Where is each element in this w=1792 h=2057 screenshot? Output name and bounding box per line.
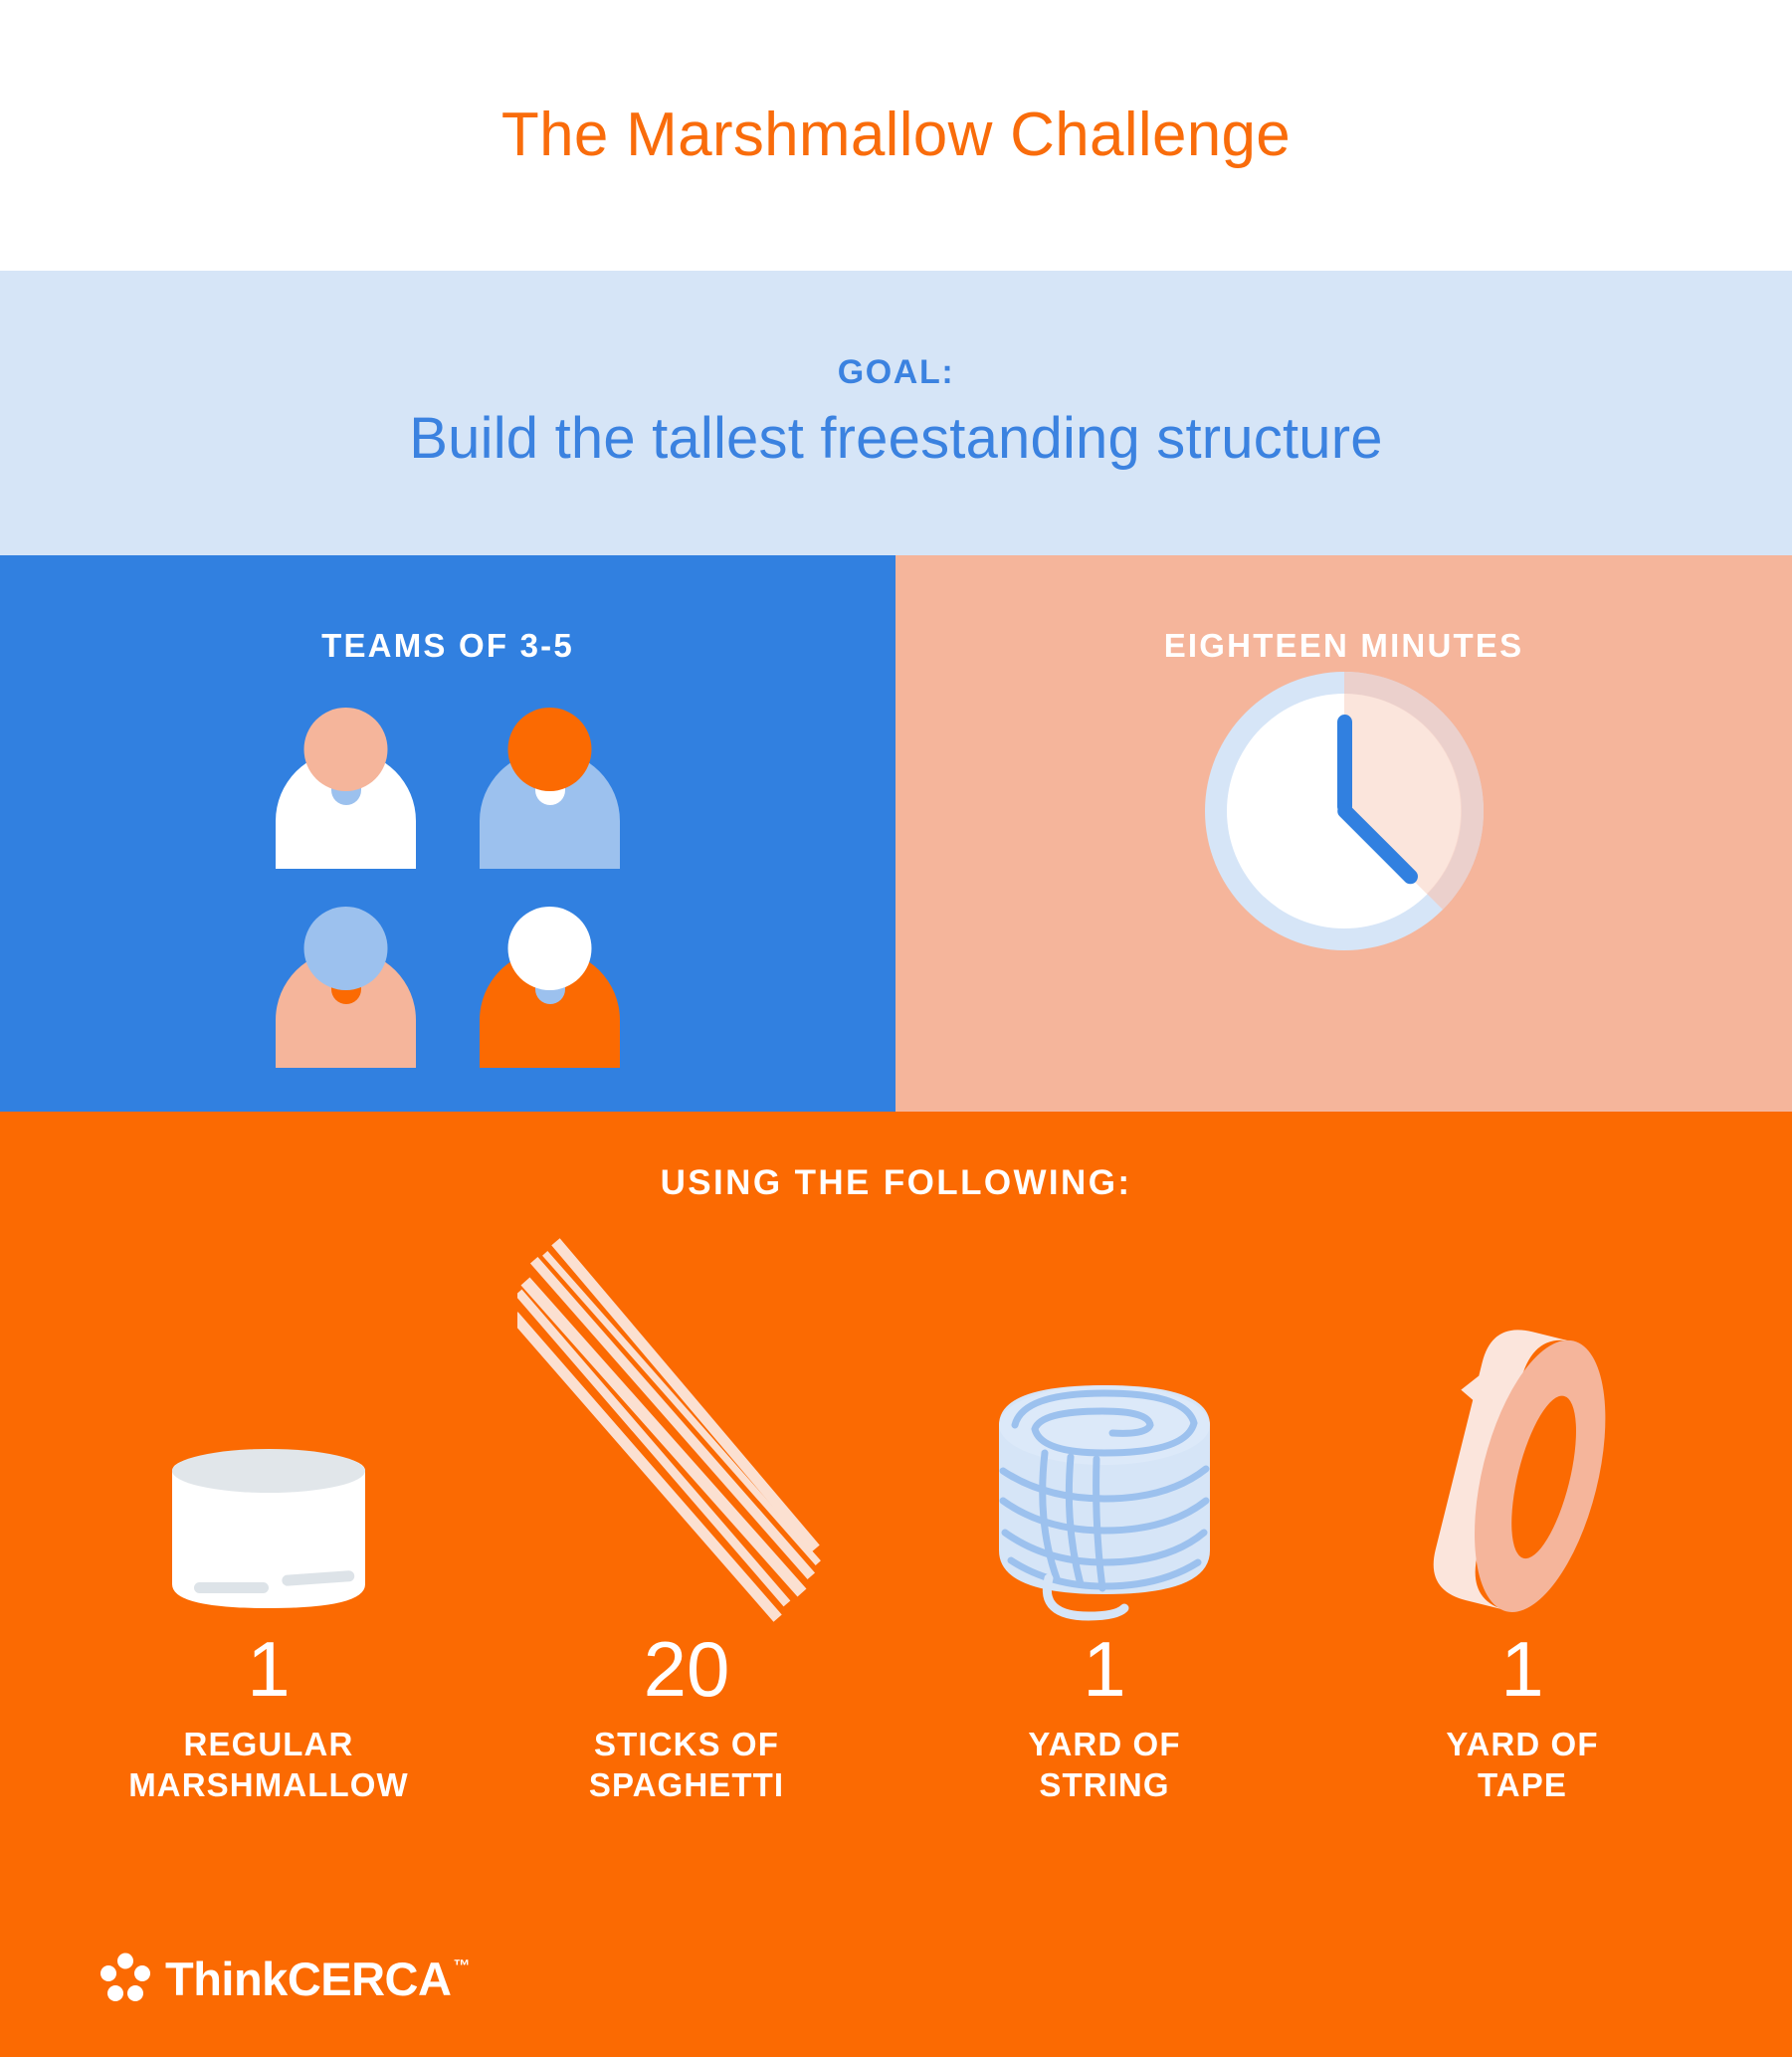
tape-label: YARD OF TAPE: [1446, 1724, 1598, 1806]
string-count: 1: [1083, 1630, 1125, 1708]
teams-heading: TEAMS OF 3-5: [0, 629, 896, 662]
logo-think-text: Think: [165, 1955, 288, 2002]
clock-wrapper: [1200, 667, 1489, 960]
person-icon: [259, 899, 433, 1068]
middle-row: TEAMS OF 3-5: [0, 555, 1792, 1112]
tape-art: [1313, 1234, 1731, 1622]
spaghetti-art: [478, 1234, 896, 1622]
string-label: YARD OF STRING: [1028, 1724, 1180, 1806]
materials-list: 1 REGULAR MARSHMALLOW 20 STICKS OF: [60, 1234, 1731, 1851]
clock-icon: [1200, 667, 1489, 955]
time-heading: EIGHTEEN MINUTES: [896, 629, 1792, 662]
goal-label: GOAL:: [838, 355, 955, 389]
spaghetti-icon: [517, 1234, 856, 1622]
logo-wordmark: ThinkCERCA™: [165, 1955, 470, 2002]
tape-roll-icon: [1413, 1324, 1632, 1622]
marshmallow-label: REGULAR MARSHMALLOW: [128, 1724, 409, 1806]
teams-panel: TEAMS OF 3-5: [0, 555, 896, 1112]
person-icon: [463, 700, 637, 869]
material-item-string: 1 YARD OF STRING: [896, 1234, 1313, 1851]
marshmallow-art: [60, 1234, 478, 1622]
spaghetti-count: 20: [644, 1630, 730, 1708]
people-group: [259, 700, 637, 1068]
person-icon: [463, 899, 637, 1068]
material-item-tape: 1 YARD OF TAPE: [1313, 1234, 1731, 1851]
string-spool-icon: [985, 1373, 1224, 1622]
material-item-marshmallow: 1 REGULAR MARSHMALLOW: [60, 1234, 478, 1851]
person-avatar-1: [259, 700, 433, 869]
goal-statement: Build the tallest freestanding structure: [409, 407, 1382, 471]
infographic-root: The Marshmallow Challenge GOAL: Build th…: [0, 0, 1792, 2057]
person-avatar-4: [463, 899, 637, 1068]
title-band: The Marshmallow Challenge: [0, 0, 1792, 271]
spaghetti-label: STICKS OF SPAGHETTI: [589, 1724, 784, 1806]
material-item-spaghetti: 20 STICKS OF SPAGHETTI: [478, 1234, 896, 1851]
time-panel: EIGHTEEN MINUTES: [896, 555, 1792, 1112]
person-icon: [259, 700, 433, 869]
logo-cerca-text: CERCA: [288, 1955, 452, 2002]
marshmallow-icon: [154, 1433, 383, 1622]
person-avatar-3: [259, 899, 433, 1068]
tape-count: 1: [1500, 1630, 1543, 1708]
page-title: The Marshmallow Challenge: [501, 104, 1291, 166]
string-art: [896, 1234, 1313, 1622]
goal-band: GOAL: Build the tallest freestanding str…: [0, 271, 1792, 555]
materials-heading: USING THE FOLLOWING:: [0, 1165, 1792, 1200]
marshmallow-count: 1: [247, 1630, 290, 1708]
person-avatar-2: [463, 700, 637, 869]
thinkcerca-logo[interactable]: ThinkCERCA™: [100, 1949, 470, 2008]
logo-trademark: ™: [453, 1957, 470, 1974]
five-dots-icon: [100, 1953, 151, 2004]
